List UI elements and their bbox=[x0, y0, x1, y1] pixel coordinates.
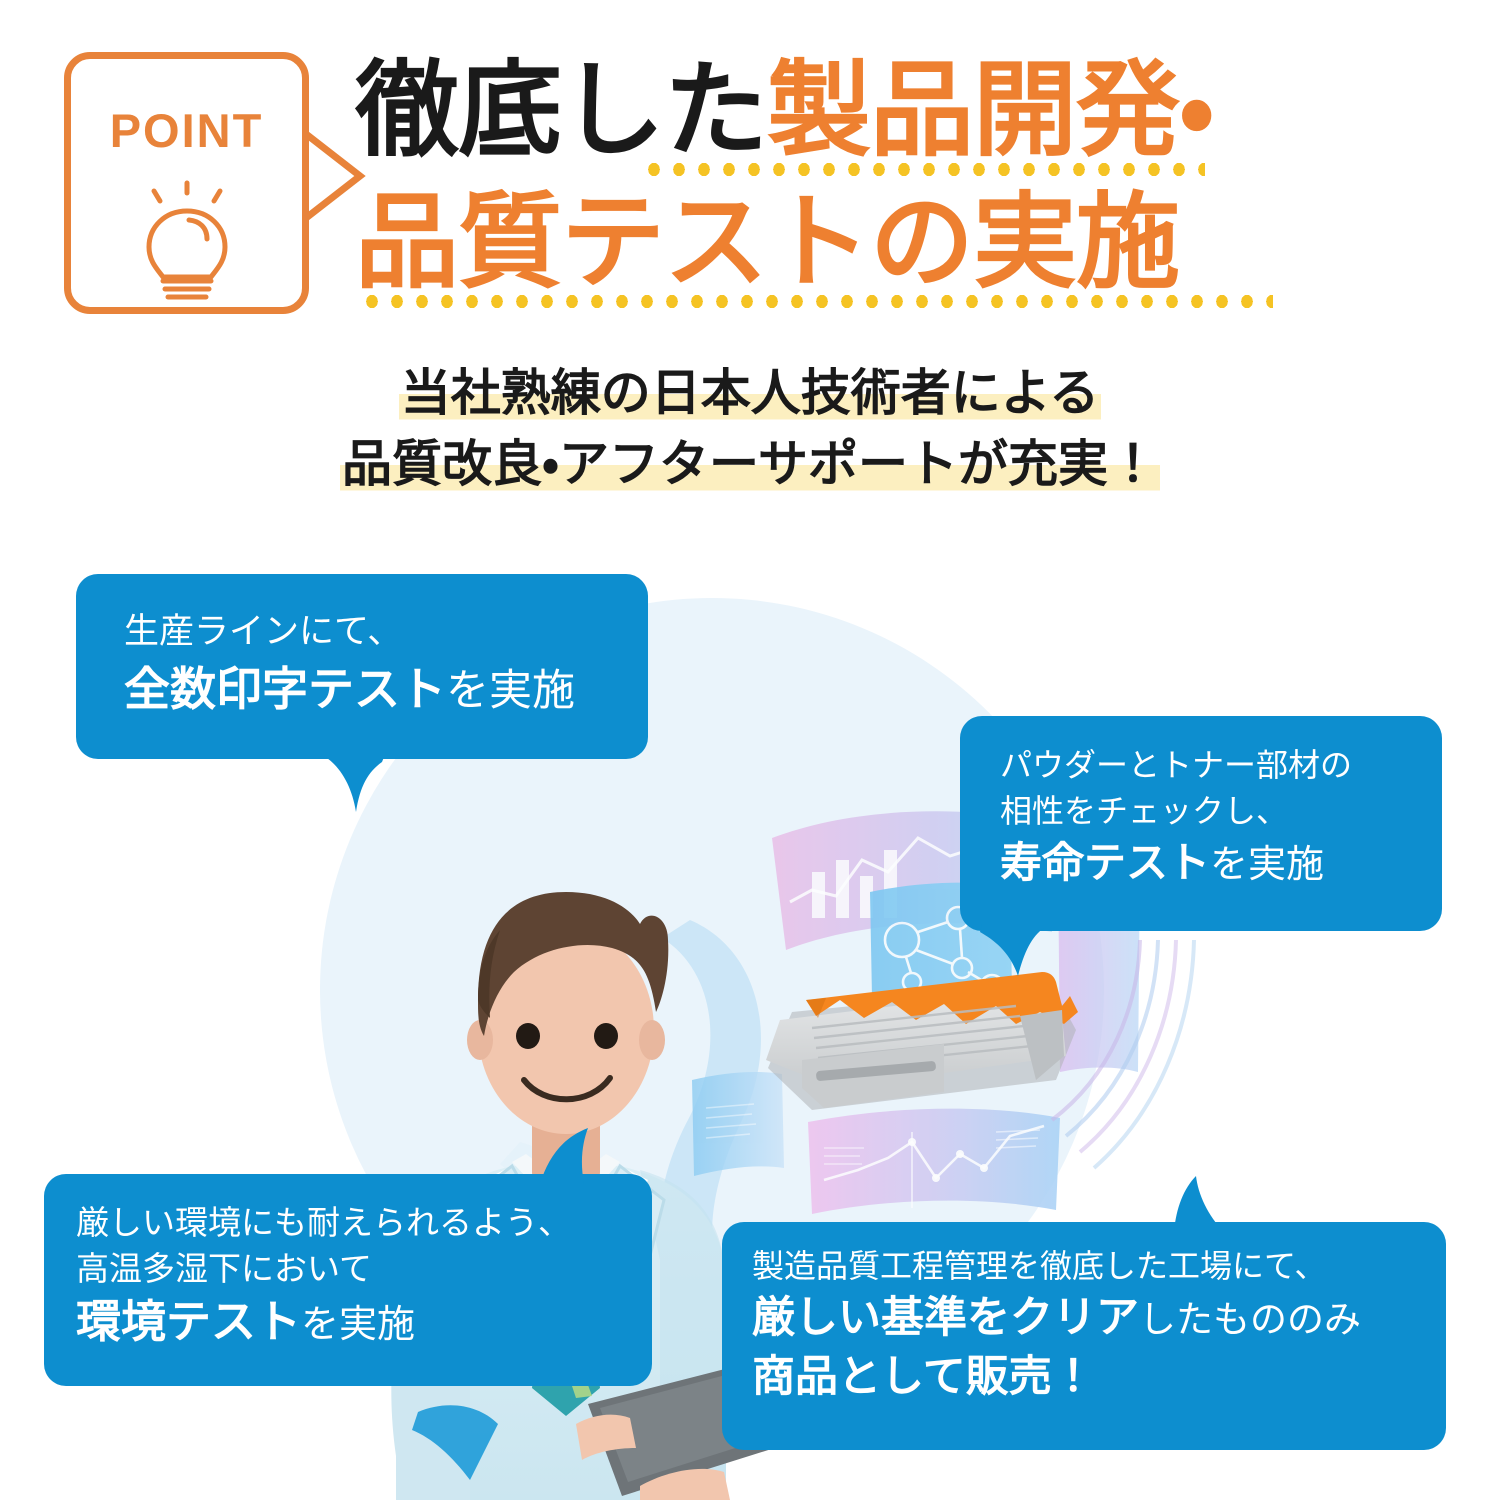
bubble-print-test-tail bbox=[322, 752, 392, 819]
subtitle-line-1: 当社熟練の日本人技術者による bbox=[0, 358, 1500, 429]
bubble-life-test-line-1: パウダーとトナー部材の bbox=[1000, 742, 1442, 788]
bubble-environment-test-line-1: 厳しい環境にも耐えられるよう、 bbox=[76, 1200, 652, 1246]
subtitle-line-2: 品質改良・アフターサポートが充実！ bbox=[0, 429, 1500, 500]
bubble-factory-quality-line-2: 厳しい基準をクリアしたもののみ bbox=[752, 1289, 1446, 1347]
point-badge: POINT bbox=[64, 52, 309, 314]
point-badge-label: POINT bbox=[71, 103, 302, 158]
page-title-line1-orange: 製品開発・ bbox=[767, 49, 1213, 171]
subtitle: 当社熟練の日本人技術者による 品質改良・アフターサポートが充実！ bbox=[0, 358, 1500, 500]
lightbulb-icon bbox=[127, 177, 247, 310]
bubble-environment-test-line-2: 高温多湿下において bbox=[76, 1246, 652, 1292]
bubble-factory-quality-line-3: 商品として販売！ bbox=[752, 1348, 1446, 1406]
page-title-line1: 徹底した製品開発・ bbox=[355, 44, 1365, 177]
bubble-environment-test-tail bbox=[536, 1128, 622, 1191]
bubble-print-test-line-2: 全数印字テストを実施 bbox=[124, 658, 648, 720]
bubble-factory-quality-tail bbox=[1172, 1176, 1238, 1239]
bubble-factory-quality: 製造品質工程管理を徹底した工場にて、 厳しい基準をクリアしたもののみ 商品として… bbox=[722, 1222, 1446, 1450]
hologram-blank-left bbox=[692, 1072, 784, 1176]
bubble-life-test: パウダーとトナー部材の 相性をチェックし、 寿命テストを実施 bbox=[960, 716, 1442, 931]
bubble-factory-quality-line-1: 製造品質工程管理を徹底した工場にて、 bbox=[752, 1244, 1446, 1289]
bubble-print-test-line-1: 生産ラインにて、 bbox=[124, 608, 648, 658]
bubble-life-test-line-2: 相性をチェックし、 bbox=[1000, 788, 1442, 834]
bubble-print-test: 生産ラインにて、 全数印字テストを実施 bbox=[76, 574, 648, 759]
hologram-line-chart bbox=[808, 1109, 1060, 1214]
bubble-environment-test-line-3: 環境テストを実施 bbox=[76, 1292, 652, 1353]
bubble-environment-test: 厳しい環境にも耐えられるよう、 高温多湿下において 環境テストを実施 bbox=[44, 1174, 652, 1386]
bubble-life-test-line-3: 寿命テストを実施 bbox=[1000, 834, 1442, 892]
page-title-line2-orange: 品質テストの実施 bbox=[355, 181, 1179, 303]
bubble-life-test-tail bbox=[974, 924, 1048, 985]
page-title: 徹底した製品開発・ 品質テストの実施 bbox=[355, 44, 1365, 308]
page-title-line2: 品質テストの実施 bbox=[355, 176, 1365, 309]
infographic-root: POINT 徹底した製品開発・ bbox=[0, 0, 1500, 1500]
point-badge-arrow-icon bbox=[300, 128, 372, 229]
page-title-line1-black: 徹底した bbox=[355, 49, 767, 171]
